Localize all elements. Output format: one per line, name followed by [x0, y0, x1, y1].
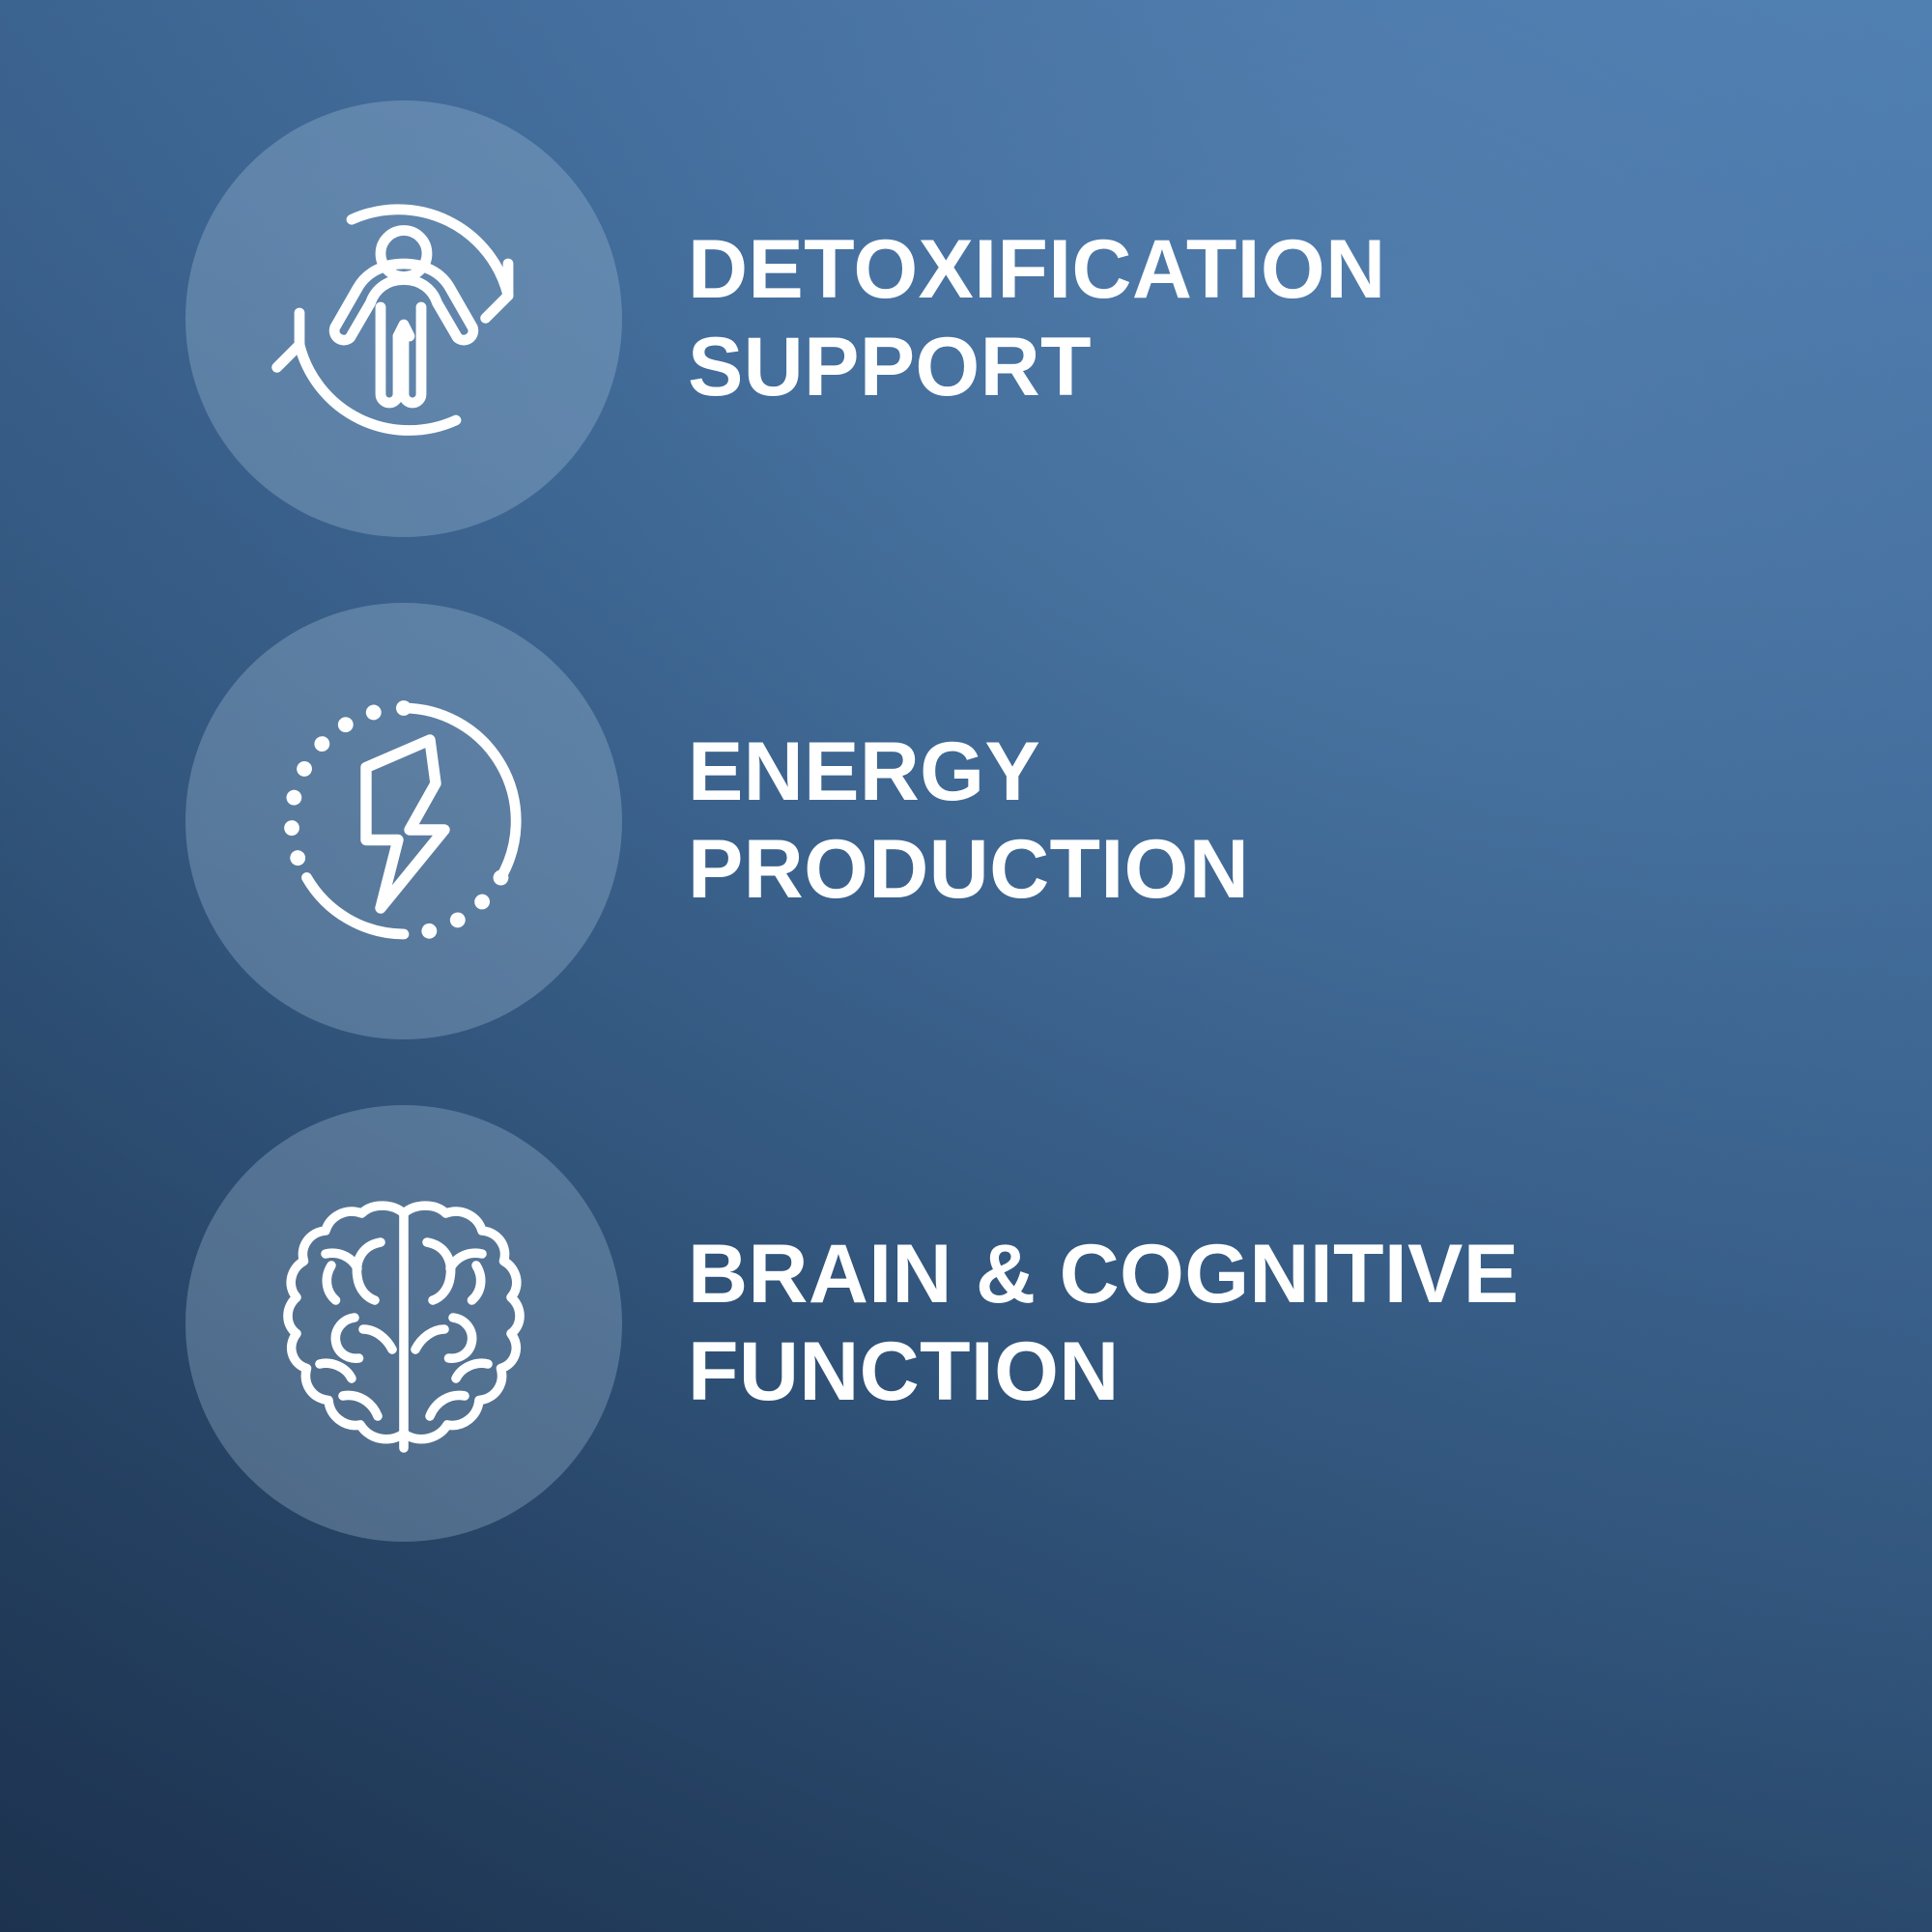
icon-badge-energy [185, 603, 622, 1039]
benefit-label-detoxification: DETOXIFICATION SUPPORT [688, 221, 1385, 415]
benefit-label-energy: ENERGY PRODUCTION [688, 724, 1249, 918]
brain-cognitive-icon [259, 1179, 549, 1468]
energy-lightning-bolt-icon [259, 676, 549, 966]
benefits-list: DETOXIFICATION SUPPORT ENERGY PROD [0, 0, 1932, 1932]
benefit-item-detoxification: DETOXIFICATION SUPPORT [0, 97, 1932, 541]
icon-badge-detoxification [185, 100, 622, 537]
detoxification-person-refresh-icon [259, 174, 549, 464]
benefit-item-brain: BRAIN & COGNITIVE FUNCTION [0, 1101, 1932, 1546]
benefit-label-brain: BRAIN & COGNITIVE FUNCTION [688, 1226, 1519, 1420]
benefit-item-energy: ENERGY PRODUCTION [0, 599, 1932, 1043]
icon-badge-brain [185, 1105, 622, 1542]
